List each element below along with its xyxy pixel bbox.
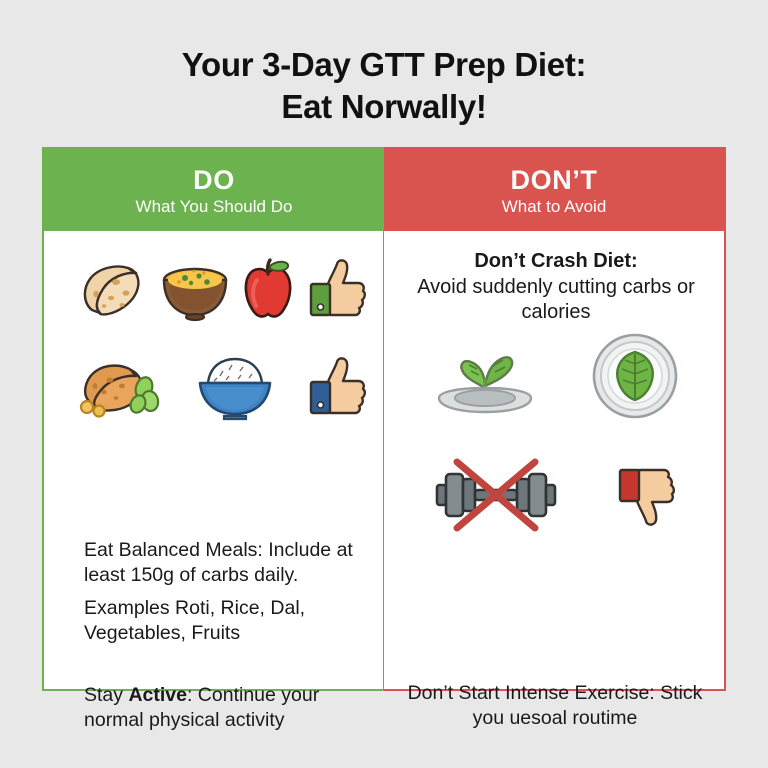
do-column-body: Eat Balanced Meals: Include at least 150…	[44, 231, 384, 689]
dont-text-intense-exercise: Don’t Start Intense Exercise: Stick you …	[394, 681, 716, 732]
thumbs-up-green-icon	[306, 258, 368, 322]
dont-column-body: Don’t Crash Diet: Avoid suddenly cutting…	[384, 231, 724, 689]
title-line-2: Eat Norwally!	[0, 86, 768, 128]
dont-header-subtitle: What to Avoid	[502, 198, 607, 217]
dont-crash-diet-sub: Avoid suddenly cutting carbs or calories	[406, 275, 706, 326]
page-title: Your 3-Day GTT Prep Diet: Eat Norwally!	[0, 44, 768, 127]
dont-icon-row-2	[406, 449, 706, 541]
do-text-stay-active: Stay Active: Continue your normal physic…	[84, 683, 360, 734]
plate-with-sprout-icon	[433, 336, 537, 416]
do-text-balanced-meals: Eat Balanced Meals: Include at least 150…	[84, 538, 360, 589]
roti-flatbread-icon	[78, 260, 150, 320]
do-header-subtitle: What You Should Do	[136, 198, 293, 217]
do-column: DO What You Should Do	[42, 147, 384, 691]
dal-bowl-icon	[159, 258, 231, 322]
thumbs-up-blue-icon	[306, 356, 368, 420]
stay-active-bold: Active	[128, 684, 187, 706]
do-text-examples: Examples Roti, Rice, Dal, Vegetables, Fr…	[84, 596, 360, 647]
thumbs-down-red-icon	[615, 461, 677, 529]
dont-icon-row-1	[406, 331, 706, 421]
vegetable-wrap-icon	[78, 356, 164, 420]
do-column-header: DO What You Should Do	[44, 147, 384, 231]
apple-icon	[239, 258, 297, 322]
dont-column: DON’T What to Avoid Don’t Crash Diet: Av…	[384, 147, 726, 691]
stay-active-prefix: Stay	[84, 684, 128, 706]
plate-with-leaf-icon	[591, 332, 679, 420]
do-header-title: DO	[193, 166, 235, 195]
dont-crash-diet-lead: Don’t Crash Diet:	[406, 249, 706, 275]
dont-header-title: DON’T	[511, 166, 598, 195]
do-dont-card: DO What You Should Do	[42, 147, 726, 691]
do-icon-row-1	[78, 251, 368, 329]
dont-column-header: DON’T What to Avoid	[384, 147, 724, 231]
do-icon-row-2	[78, 349, 368, 427]
rice-bowl-icon	[194, 356, 276, 420]
dumbbell-crossed-out-icon	[435, 454, 557, 536]
dont-text-crash-diet: Don’t Crash Diet: Avoid suddenly cutting…	[406, 249, 706, 326]
title-line-1: Your 3-Day GTT Prep Diet:	[0, 44, 768, 86]
infographic-poster: Your 3-Day GTT Prep Diet: Eat Norwally! …	[0, 0, 768, 768]
